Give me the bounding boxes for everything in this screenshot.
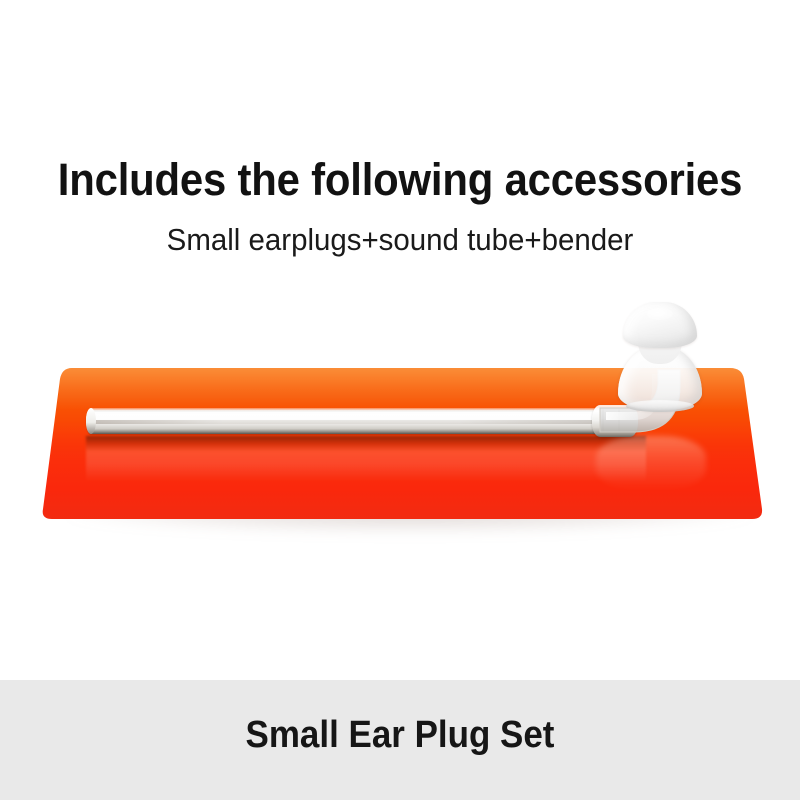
product-stage — [0, 270, 800, 570]
caption-title: Small Ear Plug Set — [32, 712, 768, 758]
sound-tube — [86, 408, 624, 434]
page-subtitle: Small earplugs+sound tube+bender — [20, 221, 780, 259]
small-earplug — [612, 302, 708, 410]
sound-tube-end-cap — [86, 408, 96, 434]
earplug-flange-lip — [626, 400, 694, 412]
sound-tube-bore — [92, 420, 616, 424]
sound-tube-highlight — [89, 412, 621, 418]
earplug-cap-highlight — [647, 308, 673, 320]
page-title: Includes the following accessories — [28, 155, 772, 205]
earplug-cap — [623, 302, 697, 348]
product-image-canvas: Includes the following accessories Small… — [0, 0, 800, 800]
